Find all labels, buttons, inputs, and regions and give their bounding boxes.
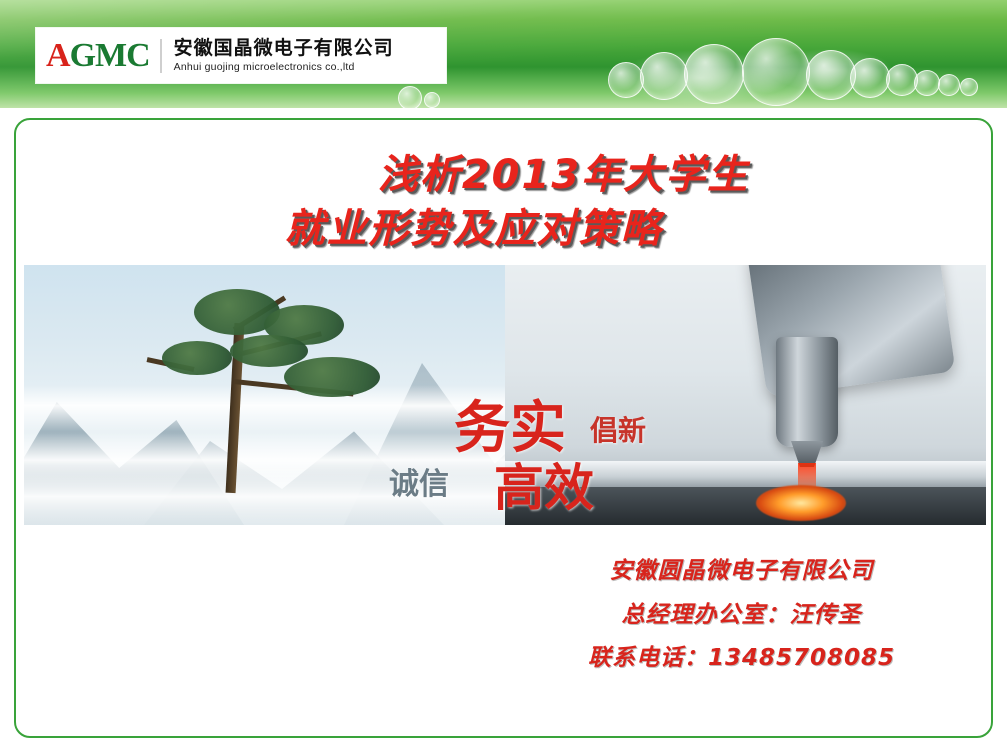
microscope-lens [776,337,838,447]
slogan-chengxin: 诚信 [389,470,449,500]
logo-company-text: 安徽国晶微电子有限公司 Anhui guojing microelectroni… [174,38,394,74]
slogan-changxin: 倡新 [590,417,646,445]
presentation-slide: AGMC 安徽国晶微电子有限公司 Anhui guojing microelec… [0,0,1007,752]
bubble-decoration [914,70,940,96]
bubble-decoration [398,86,422,108]
slide-content-panel: 浅析2013年大学生 就业形势及应对策略 [14,118,993,738]
bubble-decoration [742,38,810,106]
slide-title-line-1: 浅析2013年大学生 [16,148,991,202]
pine-tree [134,283,374,483]
contact-company: 安徽圆晶微电子有限公司 [588,550,895,594]
slogan-wushi: 务实 [454,401,566,457]
slide-title-line-2: 就业形势及应对策略 [16,202,991,256]
bubble-decoration [684,44,744,104]
slide-title: 浅析2013年大学生 就业形势及应对策略 [16,148,991,256]
company-logo: AGMC 安徽国晶微电子有限公司 Anhui guojing microelec… [36,28,446,83]
wafer-glow [756,485,846,521]
tree-foliage [230,335,308,367]
bubble-decoration [850,58,890,98]
company-name-cn: 安徽国晶微电子有限公司 [174,38,394,60]
bubble-decoration [424,92,440,108]
company-name-en: Anhui guojing microelectronics co.,ltd [174,61,394,73]
tree-foliage [162,341,232,375]
contact-phone: 联系电话：13485708085 [588,637,895,681]
tree-foliage [284,357,380,397]
logo-wordmark: AGMC [36,39,156,73]
slogan-gaoxiao: 高效 [494,463,594,513]
bubble-decoration [608,62,644,98]
bubble-decoration [640,52,688,100]
bubble-decoration [960,78,978,96]
bubble-decoration [938,74,960,96]
logo-divider [160,39,162,73]
contact-department-person: 总经理办公室：汪传圣 [588,594,895,638]
bubble-decoration [806,50,856,100]
slide-banner: AGMC 安徽国晶微电子有限公司 Anhui guojing microelec… [0,0,1007,108]
slide-hero-image: 诚信 务实 倡新 高效 [24,265,986,525]
contact-block: 安徽圆晶微电子有限公司 总经理办公室：汪传圣 联系电话：13485708085 [588,550,895,681]
logo-letters-gmc: GMC [70,37,150,74]
mountain-landscape-half [24,265,524,525]
logo-letter-a: A [46,37,70,74]
